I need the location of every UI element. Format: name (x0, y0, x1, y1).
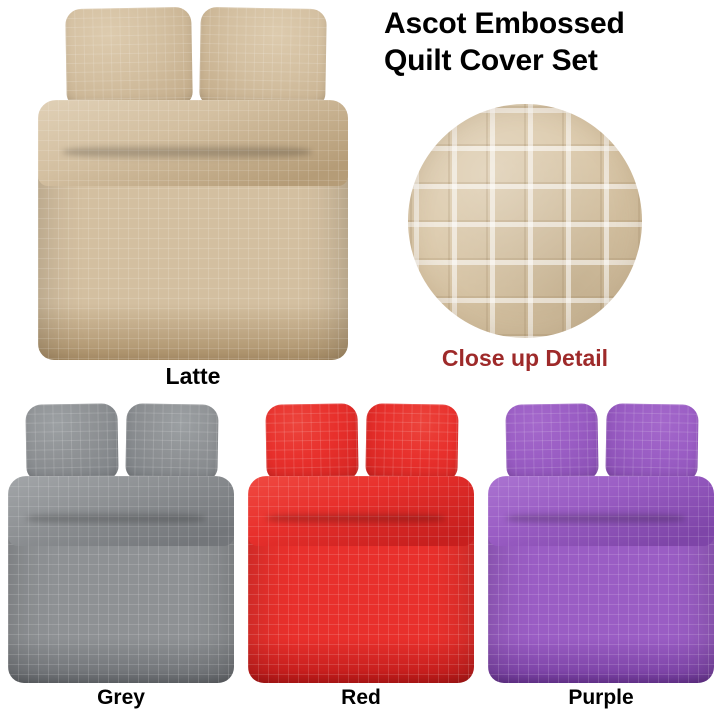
quilt-body (8, 524, 234, 683)
pillow-right (199, 7, 327, 107)
quilt-cover (488, 476, 714, 683)
quilt-cover (8, 476, 234, 683)
quilt-body (488, 524, 714, 683)
quilt-fold (488, 476, 714, 546)
variant-label-purple: Purple (488, 686, 714, 710)
closeup-detail-label: Close up Detail (408, 345, 642, 372)
closeup-detail-swatch (408, 104, 642, 338)
variant-label-grey: Grey (8, 686, 234, 710)
product-variant-latte (28, 0, 358, 360)
quilt-body (248, 524, 474, 683)
pillow-left (25, 403, 118, 481)
pillow-right (125, 403, 218, 481)
pillow-left (265, 403, 358, 481)
fabric-texture-circle (408, 104, 642, 338)
quilt-fold (38, 100, 348, 186)
title-line-1: Ascot Embossed (384, 7, 625, 40)
title-line-2: Quilt Cover Set (384, 43, 714, 80)
quilt-cover (248, 476, 474, 683)
product-image-canvas: Ascot Embossed Quilt Cover Set Close up … (0, 0, 720, 720)
pillow-right (605, 403, 698, 481)
variant-label-latte: Latte (28, 363, 358, 390)
product-variant-red (248, 398, 474, 683)
quilt-fold (8, 476, 234, 546)
quilt-cover (38, 100, 348, 360)
page-title: Ascot Embossed Quilt Cover Set (384, 6, 714, 79)
quilt-fold (248, 476, 474, 546)
variant-label-red: Red (248, 686, 474, 710)
pillow-right (365, 403, 458, 481)
pillow-left (65, 7, 193, 107)
product-variant-purple (488, 398, 714, 683)
quilt-body (38, 158, 348, 360)
pillow-left (505, 403, 598, 481)
product-variant-grey (8, 398, 234, 683)
